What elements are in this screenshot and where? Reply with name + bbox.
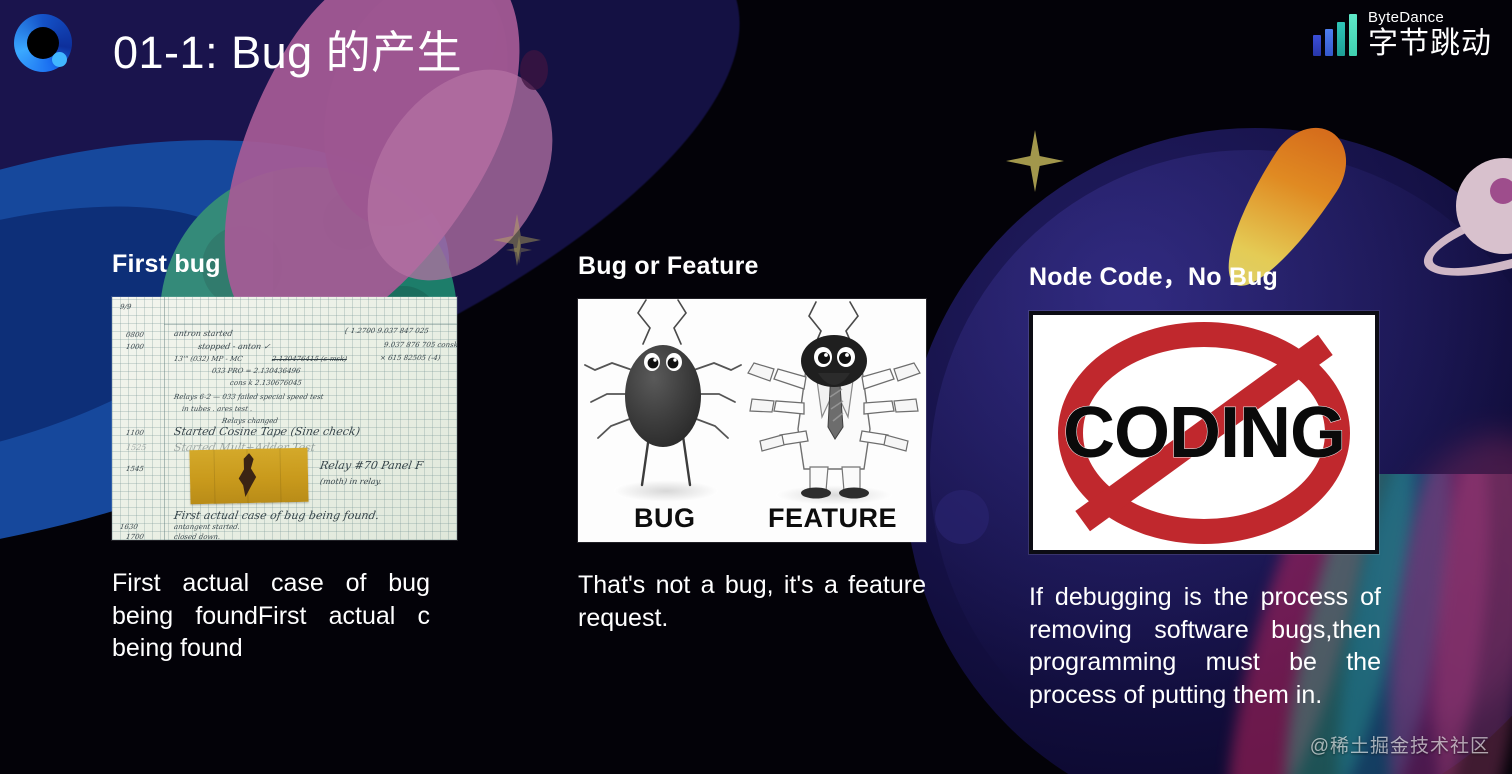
bytedance-logo-en: ByteDance (1368, 10, 1492, 25)
bytedance-bars-icon (1313, 14, 1357, 56)
feature-label: FEATURE (768, 503, 897, 534)
no-coding-illustration: CODING (1033, 315, 1375, 550)
grace-hopper-logbook-photo: 9/9 0800 1000 antron started stopped - a… (112, 297, 457, 540)
logo-accent-dot (52, 52, 67, 67)
column-first-bug: First bug 9/9 0800 1000 antron started s… (112, 250, 452, 665)
column-heading-bug-or-feature: Bug or Feature (578, 252, 928, 281)
bug-feature-illustration: BUG FEATURE (578, 299, 926, 542)
bytedance-logo-cn: 字节跳动 (1368, 29, 1492, 59)
column-caption-first-bug: First actual case of bug being foundFirs… (112, 567, 430, 665)
app-logo-icon (14, 14, 72, 72)
column-heading-no-code-no-bug: Node Code，No Bug (1029, 257, 1381, 293)
column-heading-first-bug: First bug (112, 250, 452, 279)
moth-tape (189, 448, 308, 504)
column-no-code-no-bug: Node Code，No Bug CODING If debugging is … (1029, 257, 1381, 711)
logbook-page: 9/9 0800 1000 antron started stopped - a… (112, 297, 457, 540)
bug-label: BUG (634, 503, 696, 534)
column-bug-or-feature: Bug or Feature (578, 252, 928, 634)
bug-vs-feature-cartoon: BUG FEATURE (578, 299, 926, 542)
column-caption-bug-or-feature: That's not a bug, it's a feature request… (578, 569, 926, 634)
bytedance-logo: ByteDance 字节跳动 (1313, 10, 1492, 59)
moth-specimen (231, 452, 262, 499)
no-coding-sign: CODING (1029, 311, 1379, 554)
page-title: 01-1: Bug 的产生 (113, 16, 462, 81)
community-watermark: @稀土掘金技术社区 (1310, 731, 1490, 758)
coding-text: CODING (1063, 392, 1345, 474)
presentation-slide: 01-1: Bug 的产生 ByteDance 字节跳动 First bug 9… (0, 0, 1512, 774)
column-caption-no-code-no-bug: If debugging is the process of removing … (1029, 581, 1381, 711)
